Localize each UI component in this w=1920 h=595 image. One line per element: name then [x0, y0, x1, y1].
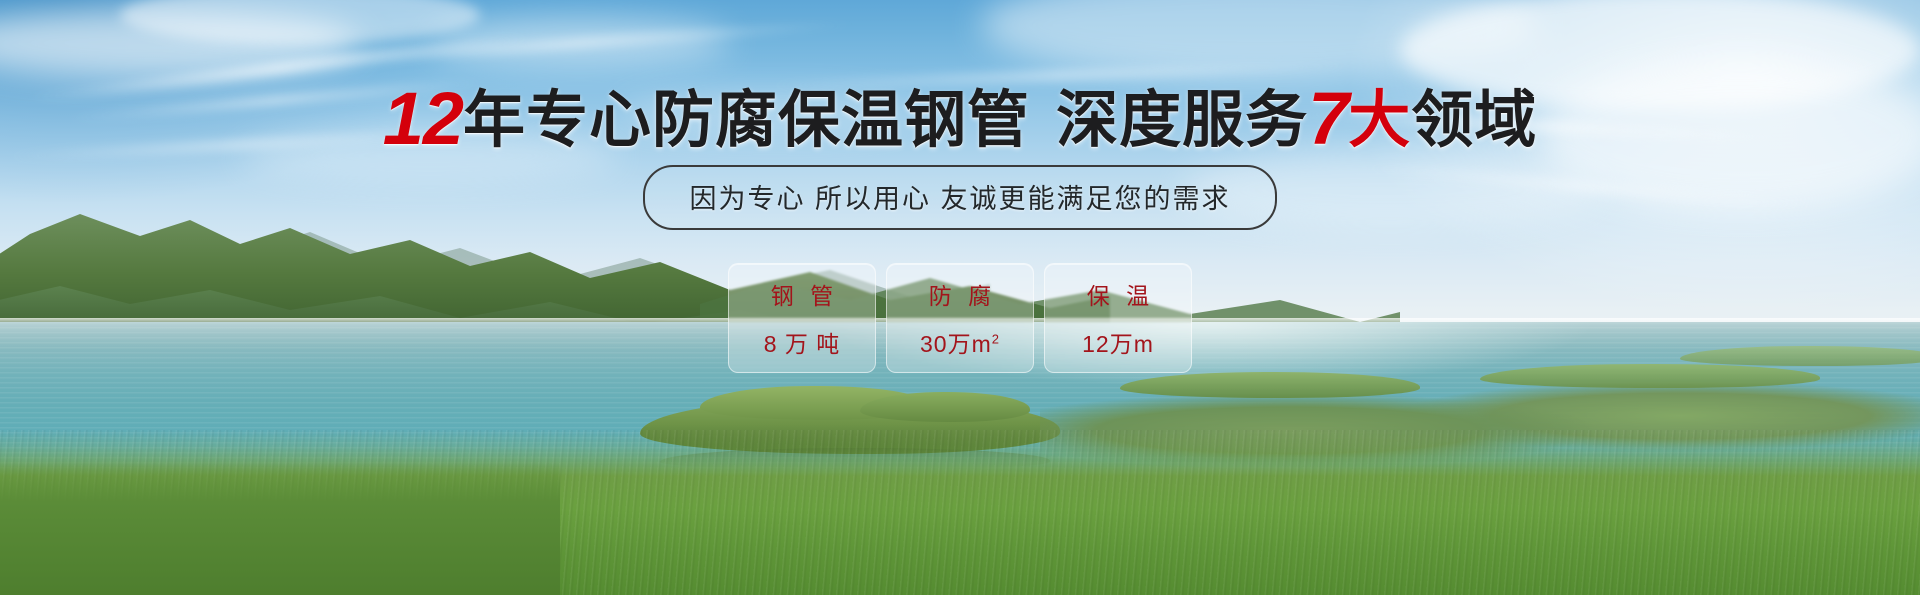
- stat-card-steel-pipe[interactable]: 钢 管 8 万 吨: [728, 263, 876, 373]
- stat-card-title: 防 腐: [924, 277, 996, 311]
- foreground-grass-left: [0, 462, 560, 595]
- hero-banner: 12年专心防腐保温钢管深度服务7大领域 因为专心 所以用心 友诚更能满足您的需求…: [0, 0, 1920, 595]
- stat-card-value-text: 30万m: [920, 331, 992, 357]
- headline-number-fields: 7: [1308, 77, 1348, 160]
- headline-segment-1: 年专心防腐保温钢管: [463, 86, 1030, 155]
- stat-card-title: 保 温: [1082, 277, 1154, 311]
- headline-segment-3: 领域: [1411, 86, 1537, 155]
- stat-card-title: 钢 管: [766, 277, 838, 311]
- page-title: 12年专心防腐保温钢管深度服务7大领域: [0, 82, 1920, 156]
- headline-number-years: 12: [383, 77, 463, 160]
- marsh-tuft: [1120, 372, 1420, 398]
- headline-segment-2: 深度服务: [1056, 86, 1308, 155]
- stat-cards: 钢 管 8 万 吨 防 腐 30万m2 保 温 12万m: [0, 263, 1920, 373]
- subtitle-pill: 因为专心 所以用心 友诚更能满足您的需求: [643, 165, 1276, 230]
- stat-card-value: 12万m: [1082, 325, 1154, 359]
- stat-card-value: 30万m2: [920, 325, 1000, 359]
- grass-island-tuft: [860, 392, 1030, 422]
- stat-card-value-text: 8 万 吨: [764, 331, 841, 357]
- stat-card-anticorrosion[interactable]: 防 腐 30万m2: [886, 263, 1034, 373]
- headline-red-char: 大: [1348, 86, 1411, 155]
- stat-card-value-exponent: 2: [992, 331, 1000, 346]
- stat-card-insulation[interactable]: 保 温 12万m: [1044, 263, 1192, 373]
- subtitle-wrapper: 因为专心 所以用心 友诚更能满足您的需求: [0, 165, 1920, 230]
- stat-card-value-text: 12万m: [1082, 331, 1154, 357]
- stat-card-value: 8 万 吨: [764, 325, 841, 359]
